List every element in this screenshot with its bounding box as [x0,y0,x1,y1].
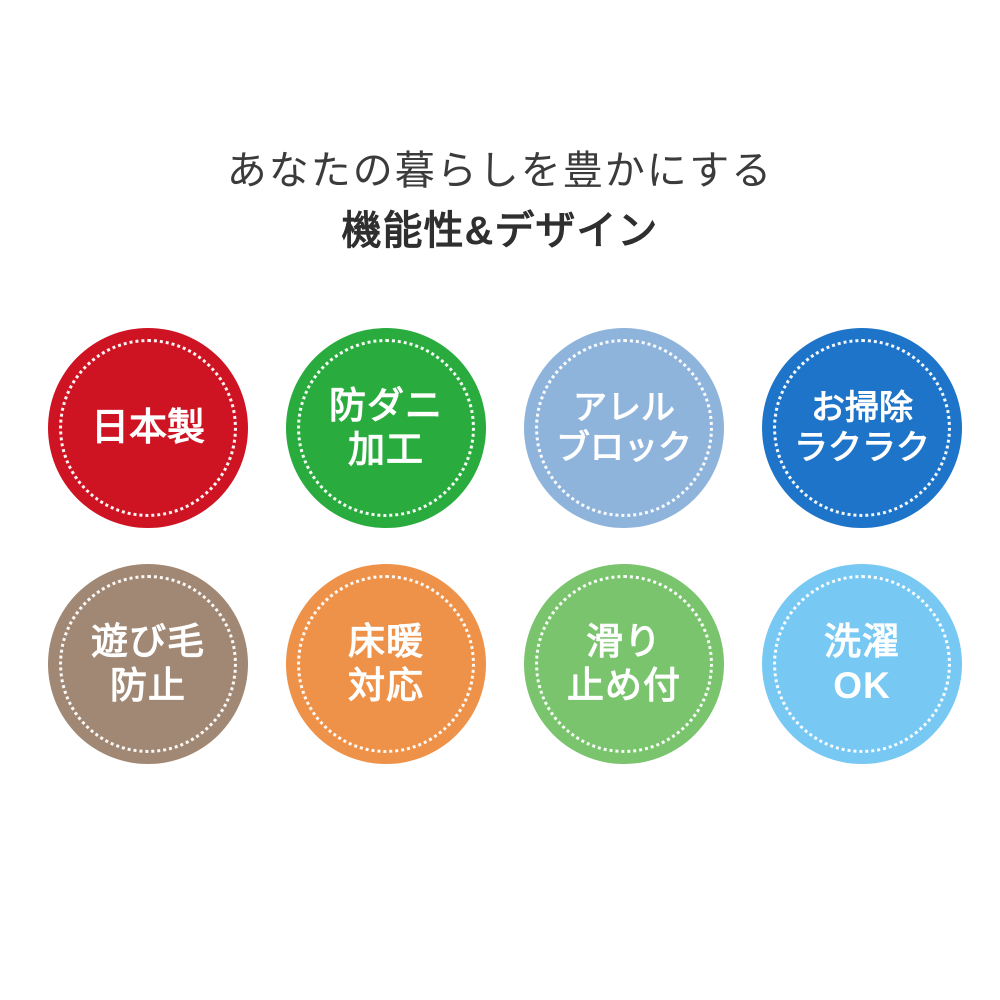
feature-badge-anti-shedding: 遊び毛防止 [48,564,248,764]
feature-badge-line: 防止 [91,664,205,708]
feature-badge-grid: 日本製防ダニ加工アレルブロックお掃除ラクラク遊び毛防止床暖対応滑り止め付洗濯OK [48,328,954,764]
feature-badge-label: アレルブロック [550,388,698,468]
feature-badge-line: 遊び毛 [91,620,205,664]
feature-badge-line: 対応 [348,664,424,708]
feature-badge-line: ラクラク [794,428,930,468]
page-title: あなたの暮らしを豊かにする 機能性&デザイン [0,146,1000,256]
feature-badge-line: お掃除 [794,388,930,428]
feature-badge-line: 止め付 [567,664,681,708]
feature-badge-line: 日本製 [91,406,205,451]
feature-badge-easy-cleaning: お掃除ラクラク [762,328,962,528]
feature-badge-label: 洗濯OK [818,620,906,707]
feature-badge-line: 洗濯 [824,620,900,664]
headline-main: 機能性&デザイン [0,206,1000,256]
feature-badge-non-slip: 滑り止め付 [524,564,724,764]
promo-feature-panel: あなたの暮らしを豊かにする 機能性&デザイン 日本製防ダニ加工アレルブロックお掃… [0,0,1000,1000]
feature-badge-line: 加工 [329,428,443,472]
feature-badge-label: お掃除ラクラク [788,388,936,468]
feature-badge-label: 日本製 [85,406,211,451]
feature-badge-made-in-japan: 日本製 [48,328,248,528]
feature-badge-label: 床暖対応 [342,620,430,707]
feature-badge-line: 床暖 [348,620,424,664]
feature-badge-line: OK [824,664,900,708]
feature-badge-label: 遊び毛防止 [85,620,211,707]
feature-badge-line: アレル [556,388,692,428]
feature-badge-line: ブロック [556,428,692,468]
feature-badge-line: 防ダニ [329,384,443,428]
headline-subtitle: あなたの暮らしを豊かにする [0,146,1000,196]
feature-badge-label: 滑り止め付 [561,620,687,707]
feature-badge-washable: 洗濯OK [762,564,962,764]
feature-badge-floor-heating: 床暖対応 [286,564,486,764]
feature-badge-allergen-block: アレルブロック [524,328,724,528]
feature-badge-line: 滑り [567,620,681,664]
feature-badge-anti-mite: 防ダニ加工 [286,328,486,528]
feature-badge-label: 防ダニ加工 [323,384,449,471]
